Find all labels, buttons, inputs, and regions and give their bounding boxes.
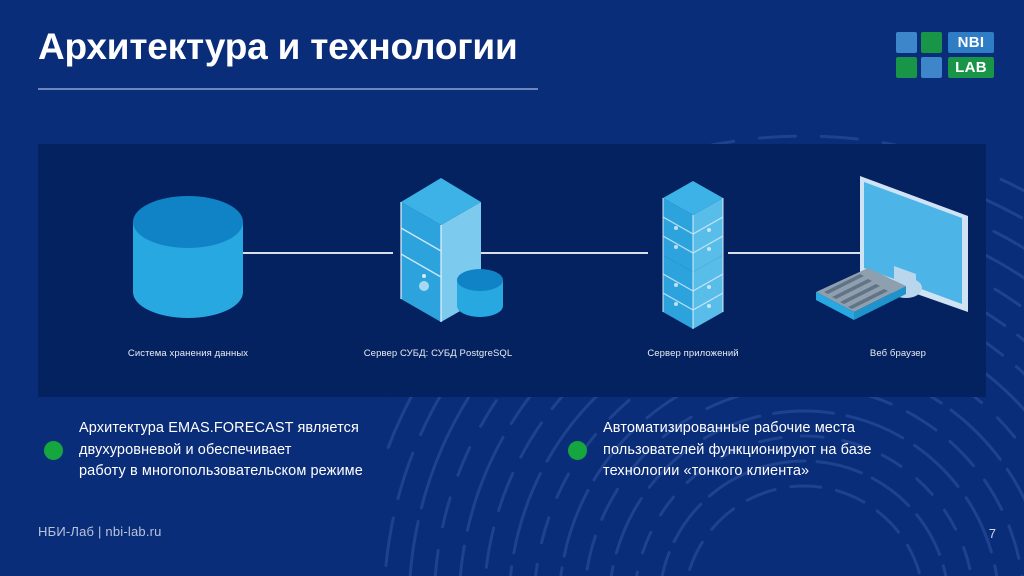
diagram-node-label-dbms: Сервер СУБД: СУБД PostgreSQL [323, 347, 553, 361]
diagram-node-appserver: Сервер приложений [578, 144, 808, 397]
logo-square-top-left [896, 32, 917, 53]
server-tower-icon [323, 162, 553, 347]
logo-word-lab: LAB [948, 57, 994, 78]
bullet-workstations-text: Автоматизированные рабочие места пользов… [603, 418, 872, 483]
footer-brand: НБИ-Лаб | nbi-lab.ru [38, 524, 162, 539]
title-underline [38, 88, 538, 90]
database-cylinder-icon [73, 162, 303, 347]
diagram-node-label-appserver: Сервер приложений [578, 347, 808, 361]
bullet-dot-icon [568, 441, 587, 460]
page-title: Архитектура и технологии [38, 26, 518, 68]
logo-square-top-right [921, 32, 942, 53]
diagram-node-label-browser: Веб браузер [798, 347, 998, 361]
bullet-list: Архитектура EMAS.FORECAST является двуху… [0, 418, 1024, 508]
diagram-node-storage: Система хранения данных [73, 144, 303, 397]
diagram-node-dbms: Сервер СУБД: СУБД PostgreSQL [323, 144, 553, 397]
bullet-workstations: Автоматизированные рабочие места пользов… [568, 418, 998, 483]
architecture-diagram-panel: Система хранения данных [38, 144, 986, 397]
bullet-architecture-text: Архитектура EMAS.FORECAST является двуху… [79, 418, 363, 483]
slide: Архитектура и технологии NBI LAB Система… [0, 0, 1024, 576]
logo-nbi-lab: NBI LAB [896, 32, 994, 84]
logo-square-bottom-left [896, 57, 917, 78]
server-rack-icon [578, 162, 808, 347]
bullet-architecture: Архитектура EMAS.FORECAST является двуху… [44, 418, 514, 483]
logo-word-nbi: NBI [948, 32, 994, 53]
diagram-node-label-storage: Система хранения данных [73, 347, 303, 361]
page-number: 7 [989, 526, 996, 541]
desktop-monitor-icon [798, 162, 998, 347]
logo-square-bottom-right [921, 57, 942, 78]
diagram-node-browser: Веб браузер [798, 144, 998, 397]
bullet-dot-icon [44, 441, 63, 460]
logo-grid-icon [896, 32, 944, 80]
